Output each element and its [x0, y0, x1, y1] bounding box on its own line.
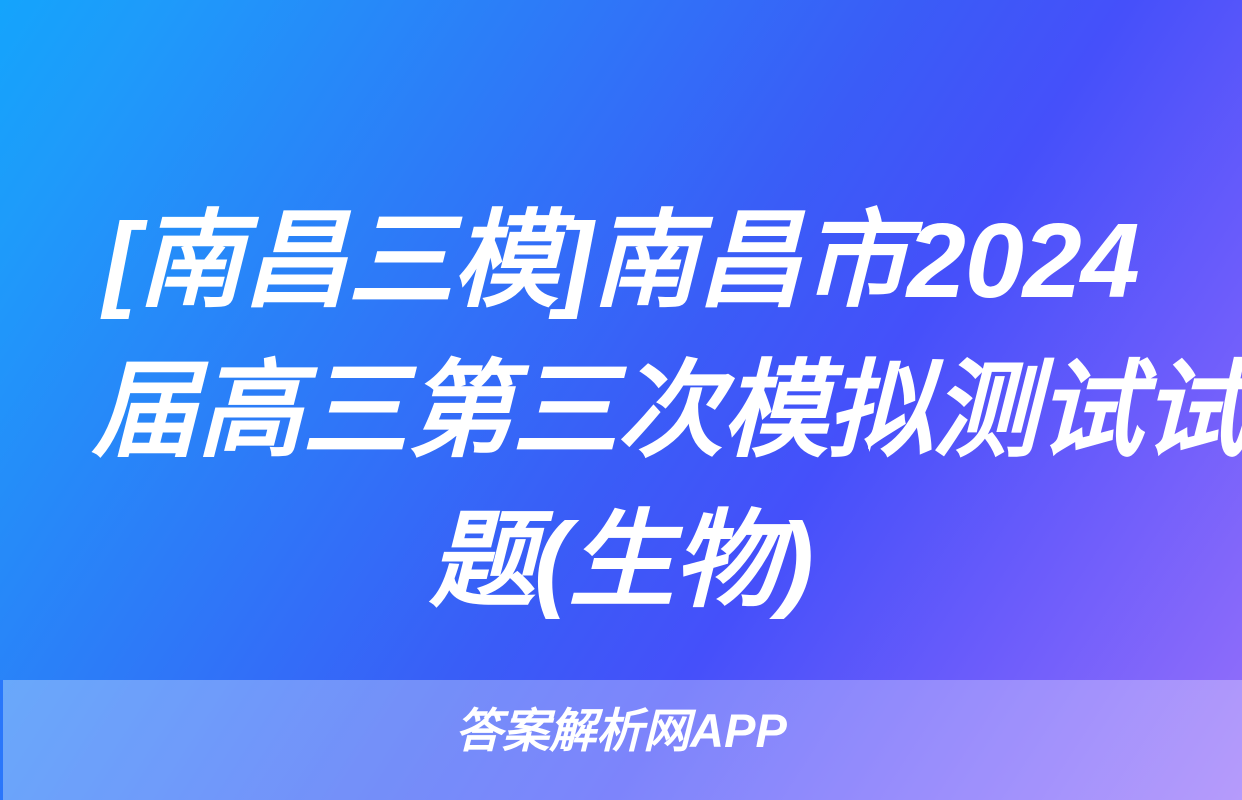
page-title: [南昌三模]南昌市2024 届高三第三次模拟测试试 题(生物): [0, 186, 1242, 636]
title-line-3: 题(生物): [92, 486, 1150, 636]
brand-watermark: 答案解析网APP: [0, 703, 1242, 759]
title-line-1: [南昌三模]南昌市2024: [92, 186, 1150, 336]
exam-cover-card: [南昌三模]南昌市2024 届高三第三次模拟测试试 题(生物) 答案解析网APP: [0, 0, 1242, 800]
title-line-2: 届高三第三次模拟测试试: [92, 336, 1150, 486]
